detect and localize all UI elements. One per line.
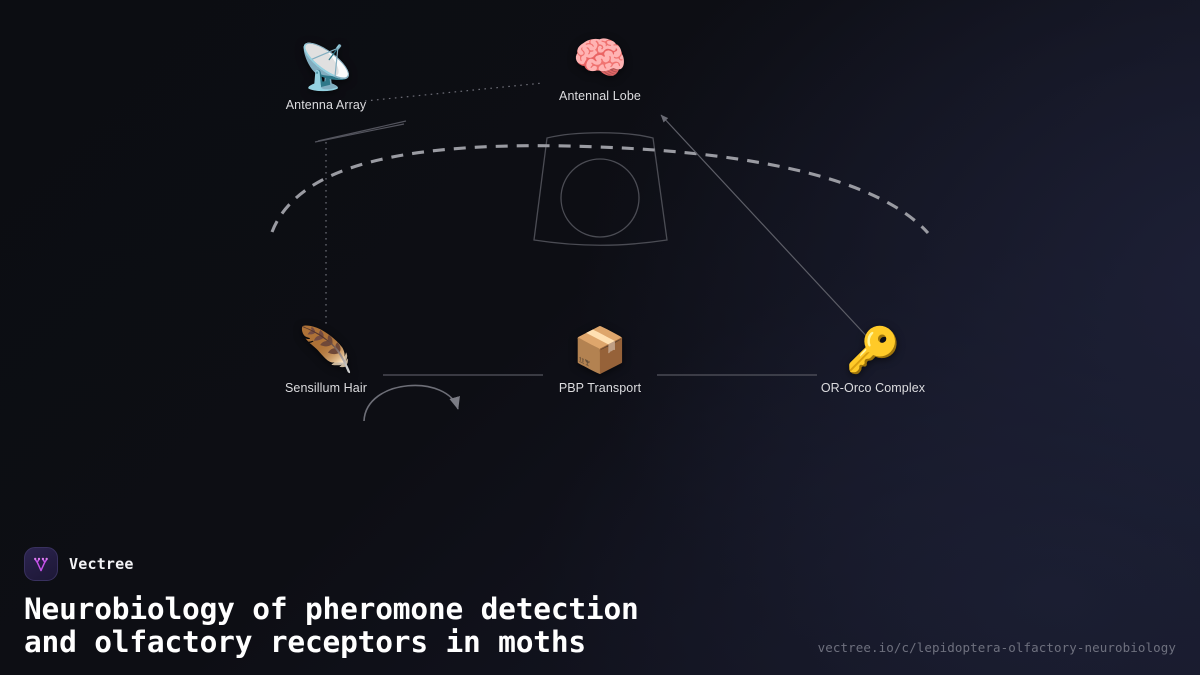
brain-icon: 🧠 [530,33,670,85]
vectree-logo-icon [24,547,58,581]
satellite-antenna-icon: 📡 [256,42,396,94]
graph-node-label: Antennal Lobe [530,89,670,103]
graph-canvas[interactable]: 📡 Antenna Array 🧠 Antennal Lobe 🪶 Sensil… [0,0,1200,520]
graph-node-antenna-array[interactable]: 📡 Antenna Array [256,42,396,112]
feather-icon: 🪶 [256,325,396,377]
graph-node-pbp-transport[interactable]: 📦 PBP Transport [530,325,670,395]
graph-node-label: OR-Orco Complex [803,381,943,395]
page-url: vectree.io/c/lepidoptera-olfactory-neuro… [818,640,1176,655]
antenna-guide-line-upper [315,124,404,142]
graph-node-or-orco-complex[interactable]: 🔑 OR-Orco Complex [803,325,943,395]
graph-node-label: Antenna Array [256,98,396,112]
graph-node-label: Sensillum Hair [256,381,396,395]
edge-orco-to-lobe [661,115,872,342]
moth-eye-circle [561,159,639,237]
brand-name: Vectree [69,555,134,573]
package-box-icon: 📦 [530,325,670,377]
key-icon: 🔑 [803,325,943,377]
vectree-canvas-page: 📡 Antenna Array 🧠 Antennal Lobe 🪶 Sensil… [0,0,1200,675]
graph-node-label: PBP Transport [530,381,670,395]
graph-node-sensillum-hair[interactable]: 🪶 Sensillum Hair [256,325,396,395]
footer-bar: Vectree Neurobiology of pheromone detect… [0,527,1200,675]
graph-node-antennal-lobe[interactable]: 🧠 Antennal Lobe [530,33,670,103]
brand-lockup[interactable]: Vectree [24,547,1176,581]
antenna-guide-line-lower [318,121,406,141]
